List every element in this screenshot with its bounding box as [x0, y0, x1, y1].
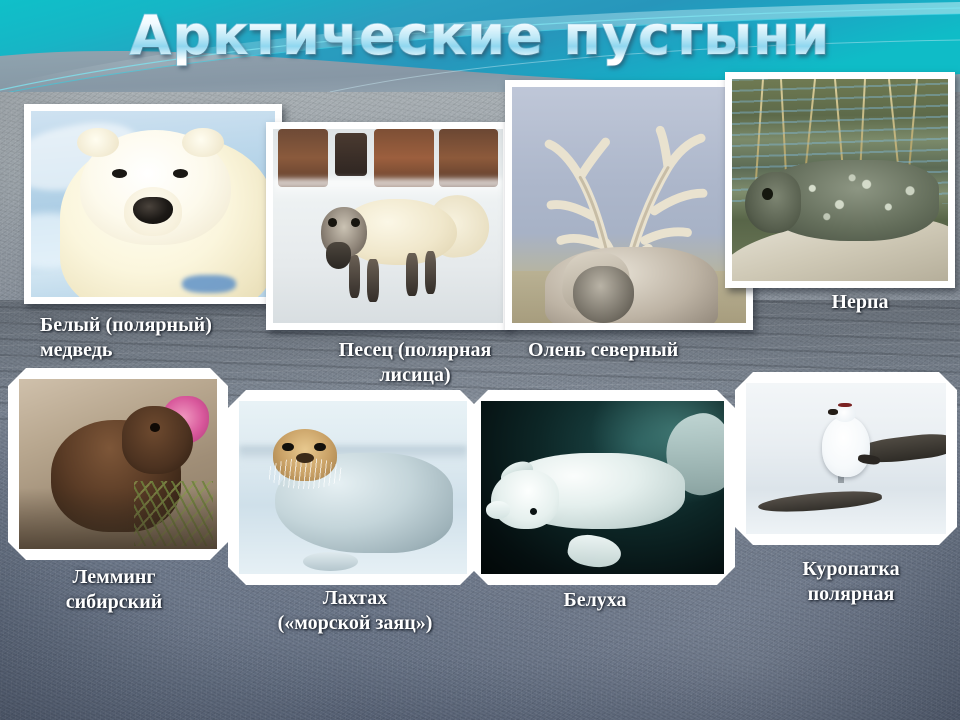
photo-frame-ringed-seal[interactable] — [725, 72, 955, 288]
caption-beluga: Белуха — [495, 588, 695, 613]
caption-ptarmigan: Куропатка полярная — [748, 557, 954, 607]
photo-frame-ptarmigan[interactable] — [735, 372, 957, 545]
caption-arctic-fox: Песец (полярная лисица) — [285, 338, 545, 388]
photo-frame-arctic-fox[interactable] — [266, 122, 510, 330]
caption-reindeer: Олень северный — [528, 338, 758, 363]
caption-lemming: Лемминг сибирский — [14, 565, 214, 615]
photo-lemming — [19, 379, 217, 549]
photo-ringed-seal — [732, 79, 948, 281]
caption-polar-bear: Белый (полярный) медведь — [40, 313, 300, 363]
photo-frame-polar-bear[interactable] — [24, 104, 282, 304]
photo-ptarmigan — [746, 383, 946, 534]
photo-arctic-fox — [273, 129, 503, 323]
slide-title: Арктические пустыни — [0, 4, 960, 68]
caption-ringed-seal: Нерпа — [760, 290, 960, 315]
photo-frame-reindeer[interactable] — [505, 80, 753, 330]
slide-canvas: Арктические пустыни Арктические пустыни — [0, 0, 960, 720]
photo-bearded-seal — [239, 401, 467, 574]
photo-frame-lemming[interactable] — [8, 368, 228, 560]
photo-frame-beluga[interactable] — [470, 390, 735, 585]
caption-bearded-seal: Лахтах («морской заяц») — [232, 586, 478, 636]
photo-reindeer — [512, 87, 746, 323]
photo-polar-bear — [31, 111, 275, 297]
photo-frame-bearded-seal[interactable] — [228, 390, 478, 585]
photo-beluga — [481, 401, 724, 574]
